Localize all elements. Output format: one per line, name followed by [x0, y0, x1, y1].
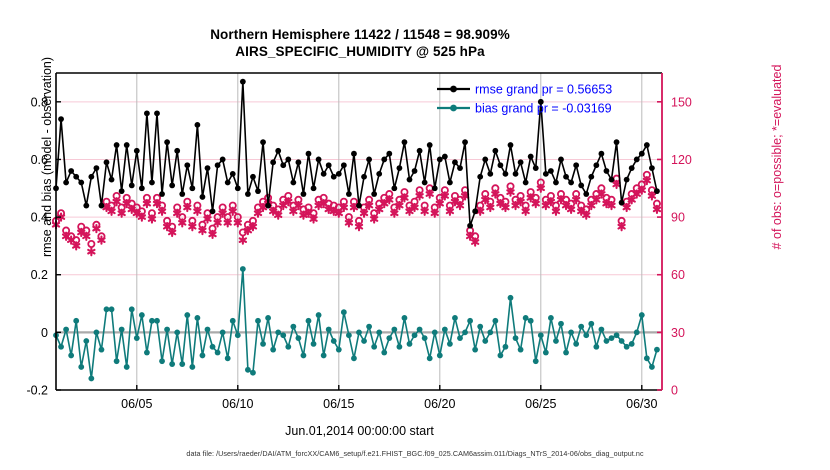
x-tick-label: 06/25 [525, 397, 556, 411]
x-tick-label: 06/20 [424, 397, 455, 411]
x-tick-label: 06/30 [626, 397, 657, 411]
chart-canvas: 0.80.60.40.20-0.2150120906030006/0506/10… [0, 0, 830, 470]
plot-figure: Northern Hemisphere 11422 / 11548 = 98.9… [0, 0, 830, 470]
legend-item[interactable]: rmse grand pr = 0.56653 [437, 83, 612, 97]
chart-legend[interactable]: rmse grand pr = 0.56653bias grand pr = -… [437, 83, 612, 116]
x-tick-label: 06/05 [121, 397, 152, 411]
y-tick-left: 0.4 [31, 211, 48, 225]
y-tick-right: 30 [671, 326, 685, 340]
legend-label: bias grand pr = -0.03169 [475, 102, 612, 116]
y-tick-left: 0.6 [31, 153, 48, 167]
legend-item[interactable]: bias grand pr = -0.03169 [437, 102, 612, 116]
y-tick-right: 0 [671, 384, 678, 398]
y-tick-left: 0.8 [31, 95, 48, 109]
y-tick-left: -0.2 [26, 384, 48, 398]
x-tick-label: 06/15 [323, 397, 354, 411]
y-tick-right: 120 [671, 153, 692, 167]
y-tick-right: 60 [671, 268, 685, 282]
y-tick-left: 0.2 [31, 268, 48, 282]
y-tick-left: 0 [41, 326, 48, 340]
legend-label: rmse grand pr = 0.56653 [475, 83, 612, 97]
y-tick-right: 90 [671, 211, 685, 225]
y-tick-right: 150 [671, 95, 692, 109]
bias-series-layer [53, 266, 660, 381]
x-tick-label: 06/10 [222, 397, 253, 411]
